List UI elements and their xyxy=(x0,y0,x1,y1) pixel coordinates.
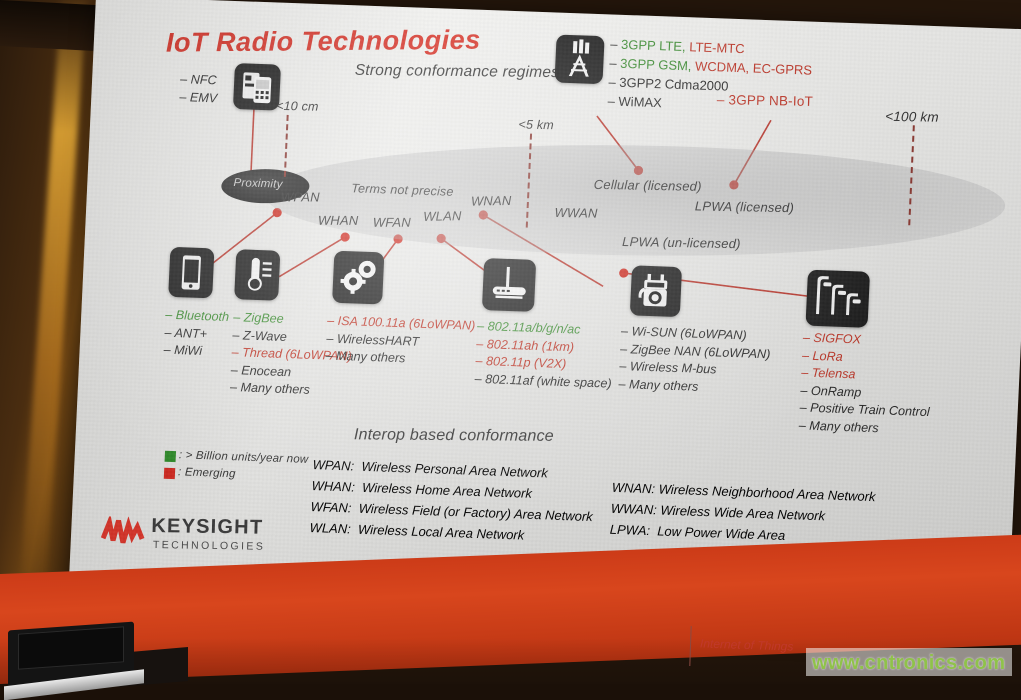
legend-label-billion: : > Billion units/year now xyxy=(179,449,309,466)
tier-label-lpwa-licensed: LPWA (licensed) xyxy=(695,198,795,215)
distance-marker-5km: <5 km xyxy=(518,118,554,133)
cell-tower-icon xyxy=(554,35,604,85)
list-item: – NFC xyxy=(180,71,219,90)
tier-label-wlan: WLAN xyxy=(423,208,461,224)
glossary-left: WPAN: Wireless Personal Area Network WHA… xyxy=(309,454,595,548)
legend-swatch-red xyxy=(164,468,176,479)
strong-conformance-caption: Strong conformance regimes xyxy=(355,62,560,82)
wlan-tech-list: – 802.11a/b/g/n/ac – 802.11ah (1km) – 80… xyxy=(474,318,614,393)
list-item: – ANT+ xyxy=(164,324,229,344)
smartphone-icon xyxy=(168,247,214,299)
thermostat-icon xyxy=(234,249,280,301)
room-environment: Proximity Terms not precise IoT Radio Te… xyxy=(0,0,1021,684)
dash-line-10cm xyxy=(284,115,289,177)
glossary-right: WNAN: Wireless Neighborhood Area Network… xyxy=(609,477,876,549)
pos-terminal-icon xyxy=(233,63,281,111)
wfan-tech-list: – ISA 100.11a (6LoWPAN) – WirelessHART –… xyxy=(325,312,476,370)
list-item: – Bluetooth xyxy=(165,307,230,327)
gears-icon xyxy=(332,251,384,305)
keysight-wave-mark xyxy=(101,516,148,547)
tier-label-whan: WHAN xyxy=(318,213,359,228)
page-title: IoT Radio Technologies xyxy=(166,25,481,59)
proximity-label: Proximity xyxy=(233,177,283,191)
brand-subtitle: TECHNOLOGIES xyxy=(153,539,266,553)
tier-label-lpwa-unlicensed: LPWA (un-licensed) xyxy=(622,234,741,251)
proximity-tech-list: – NFC – EMV xyxy=(179,71,218,107)
list-item: – MiWi xyxy=(163,342,228,362)
tier-label-wwan: WWAN xyxy=(554,205,598,221)
tier-label-cellular-licensed: Cellular (licensed) xyxy=(594,177,702,194)
wnan-tech-list: – Wi-SUN (6LoWPAN) – ZigBee NAN (6LoWPAN… xyxy=(618,323,771,398)
laptop-screen xyxy=(18,626,124,669)
distance-marker-10cm: <10 cm xyxy=(276,99,319,114)
utility-meter-icon xyxy=(630,265,682,317)
brand-name: KEYSIGHT xyxy=(151,515,266,540)
tier-label-wfan: WFAN xyxy=(373,215,411,230)
tier-label-wpan: WPAN xyxy=(281,189,320,204)
list-item: – EMV xyxy=(179,89,218,108)
interop-conformance-caption: Interop based conformance xyxy=(354,426,554,446)
keysight-logo: KEYSIGHT TECHNOLOGIES xyxy=(105,514,266,552)
laptop-keyboard xyxy=(4,669,144,700)
lpwa-tech-list: – SIGFOX – LoRa – Telensa – OnRamp – Pos… xyxy=(798,330,933,440)
streetlights-icon xyxy=(805,270,870,328)
laptop xyxy=(8,622,134,689)
site-watermark: www.cntronics.com xyxy=(812,652,1005,675)
list-item: – Many others xyxy=(230,379,351,401)
wpan-tech-list: – Bluetooth – ANT+ – MiWi xyxy=(163,307,229,362)
legend-swatch-green xyxy=(165,451,177,462)
nbiot-label: – 3GPP NB-IoT xyxy=(717,92,814,109)
wifi-router-icon xyxy=(482,258,536,312)
list-item: – 802.11af (white space) xyxy=(474,370,612,392)
tier-label-wnan: WNAN xyxy=(471,193,512,209)
legend-label-emerging: : Emerging xyxy=(178,466,236,480)
distance-marker-100km: <100 km xyxy=(885,109,939,125)
